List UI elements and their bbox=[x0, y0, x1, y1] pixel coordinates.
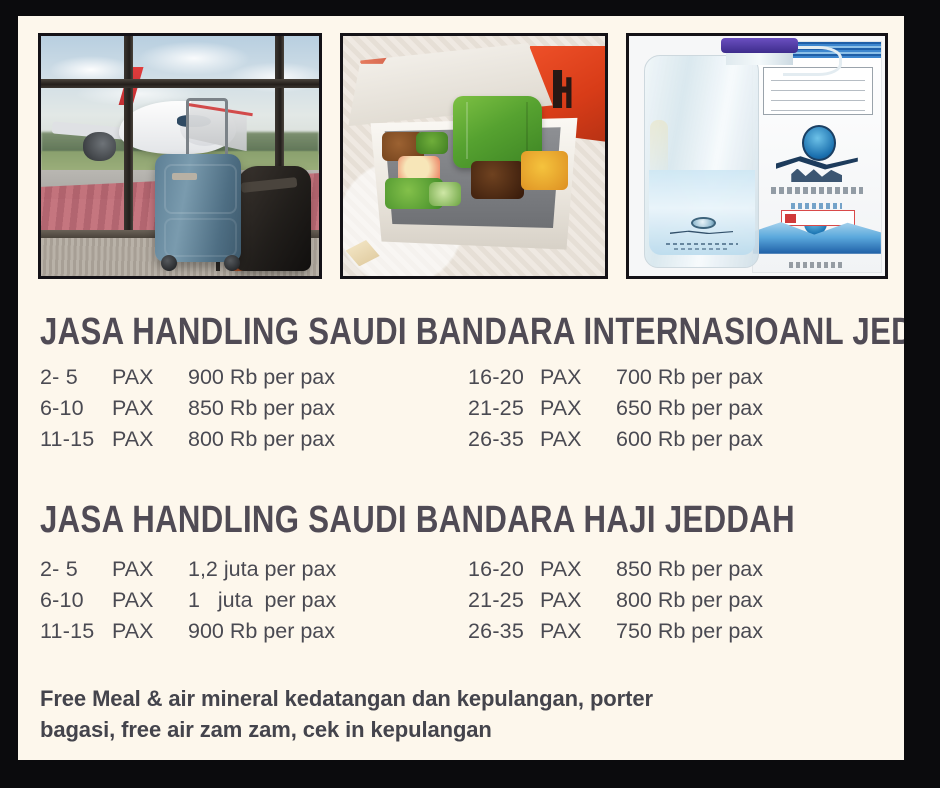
zam-zam-water-photo bbox=[626, 33, 888, 279]
table-row: 11-15 PAX 900 Rb per pax 26-35 PAX 750 R… bbox=[40, 619, 880, 650]
price-cell: 16-20 PAX 700 Rb per pax bbox=[468, 365, 880, 390]
photo-strip bbox=[38, 33, 888, 279]
meal-box-photo bbox=[340, 33, 608, 279]
pax-range: 16-20 bbox=[468, 365, 540, 390]
pax-unit: PAX bbox=[112, 557, 188, 582]
price-cell: 11-15 PAX 800 Rb per pax bbox=[40, 427, 468, 452]
pax-range: 26-35 bbox=[468, 619, 540, 644]
label-line bbox=[771, 80, 866, 81]
price-value: 800 Rb per pax bbox=[188, 427, 335, 452]
price-cell: 26-35 PAX 600 Rb per pax bbox=[468, 427, 880, 452]
price-cell: 2- 5 PAX 1,2 juta per pax bbox=[40, 557, 468, 582]
suitcase-handle bbox=[186, 98, 228, 161]
price-value: 600 Rb per pax bbox=[616, 427, 763, 452]
pax-range: 2- 5 bbox=[40, 365, 112, 390]
price-value: 800 Rb per pax bbox=[616, 588, 763, 613]
pax-unit: PAX bbox=[112, 396, 188, 421]
pax-range: 21-25 bbox=[468, 396, 540, 421]
section-1-heading: JASA HANDLING SAUDI BANDARA INTERNASIOAN… bbox=[40, 311, 904, 354]
food-omelette bbox=[521, 151, 568, 189]
pax-unit: PAX bbox=[540, 365, 616, 390]
bottle-arabic-logo bbox=[670, 230, 734, 234]
bottle-emblem-icon bbox=[691, 217, 716, 229]
pax-unit: PAX bbox=[112, 588, 188, 613]
plane-engine bbox=[83, 132, 116, 161]
price-cell: 16-20 PAX 850 Rb per pax bbox=[468, 557, 880, 582]
price-cell: 11-15 PAX 900 Rb per pax bbox=[40, 619, 468, 644]
arabic-brand-text bbox=[791, 169, 842, 183]
pax-unit: PAX bbox=[540, 588, 616, 613]
bottle-label bbox=[649, 170, 755, 254]
price-cell: 26-35 PAX 750 Rb per pax bbox=[468, 619, 880, 644]
price-cell: 21-25 PAX 650 Rb per pax bbox=[468, 396, 880, 421]
pax-range: 16-20 bbox=[468, 557, 540, 582]
food-green-chili bbox=[416, 132, 447, 154]
price-value: 750 Rb per pax bbox=[616, 619, 763, 644]
airport-terminal-luggage-photo bbox=[38, 33, 322, 279]
price-value: 850 Rb per pax bbox=[188, 396, 335, 421]
section-2-heading: JASA HANDLING SAUDI BANDARA HAJI JEDDAH bbox=[40, 499, 795, 542]
arabic-secondary-text bbox=[791, 203, 842, 209]
pax-range: 26-35 bbox=[468, 427, 540, 452]
pax-range: 11-15 bbox=[40, 427, 112, 452]
carton-website-text bbox=[789, 262, 845, 268]
price-value: 1 juta per pax bbox=[188, 588, 336, 613]
table-row: 2- 5 PAX 1,2 juta per pax 16-20 PAX 850 … bbox=[40, 557, 880, 588]
pax-unit: PAX bbox=[540, 427, 616, 452]
price-cell: 6-10 PAX 850 Rb per pax bbox=[40, 396, 468, 421]
bottle-label-text bbox=[666, 243, 738, 245]
blue-suitcase bbox=[155, 154, 241, 262]
poster-frame: JASA HANDLING SAUDI BANDARA INTERNASIOAN… bbox=[0, 0, 940, 788]
meal-scene bbox=[343, 36, 605, 276]
price-value: 850 Rb per pax bbox=[616, 557, 763, 582]
price-value: 650 Rb per pax bbox=[616, 396, 763, 421]
price-cell: 21-25 PAX 800 Rb per pax bbox=[468, 588, 880, 613]
pax-range: 6-10 bbox=[40, 588, 112, 613]
label-line bbox=[771, 90, 866, 91]
table-row: 6-10 PAX 1 juta per pax 21-25 PAX 800 Rb… bbox=[40, 588, 880, 619]
price-value: 1,2 juta per pax bbox=[188, 557, 336, 582]
price-cell: 6-10 PAX 1 juta per pax bbox=[40, 588, 468, 613]
label-line bbox=[771, 110, 866, 111]
pax-unit: PAX bbox=[112, 619, 188, 644]
airport-scene bbox=[41, 36, 319, 276]
water-bottle bbox=[644, 55, 759, 268]
section-2-price-table: 2- 5 PAX 1,2 juta per pax 16-20 PAX 850 … bbox=[40, 557, 880, 650]
pax-range: 6-10 bbox=[40, 396, 112, 421]
water-product-scene bbox=[629, 36, 885, 276]
price-value: 900 Rb per pax bbox=[188, 619, 335, 644]
food-cucumber bbox=[429, 182, 460, 206]
pax-unit: PAX bbox=[112, 427, 188, 452]
food-rendang bbox=[471, 161, 523, 199]
bottle-cap bbox=[721, 38, 798, 52]
pax-unit: PAX bbox=[540, 557, 616, 582]
arabic-subtitle-text bbox=[771, 187, 863, 194]
authority-logo-badge bbox=[781, 210, 855, 226]
pax-unit: PAX bbox=[112, 365, 188, 390]
section-1-price-table: 2- 5 PAX 900 Rb per pax 16-20 PAX 700 Rb… bbox=[40, 365, 880, 458]
price-cell: 2- 5 PAX 900 Rb per pax bbox=[40, 365, 468, 390]
pax-range: 2- 5 bbox=[40, 557, 112, 582]
pax-unit: PAX bbox=[540, 396, 616, 421]
table-row: 2- 5 PAX 900 Rb per pax 16-20 PAX 700 Rb… bbox=[40, 365, 880, 396]
pax-unit: PAX bbox=[540, 619, 616, 644]
pax-range: 11-15 bbox=[40, 619, 112, 644]
suitcase-badge bbox=[172, 173, 197, 180]
footer-note: Free Meal & air mineral kedatangan dan k… bbox=[40, 683, 860, 745]
price-value: 700 Rb per pax bbox=[616, 365, 763, 390]
zam-zam-carton bbox=[752, 41, 882, 273]
table-row: 11-15 PAX 800 Rb per pax 26-35 PAX 600 R… bbox=[40, 427, 880, 458]
table-row: 6-10 PAX 850 Rb per pax 21-25 PAX 650 Rb… bbox=[40, 396, 880, 427]
bottle-label-subtext bbox=[674, 248, 729, 250]
window-mullion-horizontal bbox=[41, 79, 319, 88]
zam-zam-emblem-icon bbox=[802, 125, 837, 161]
label-line bbox=[771, 100, 866, 101]
suitcase-wheel bbox=[161, 255, 177, 271]
poster-sheet: JASA HANDLING SAUDI BANDARA INTERNASIOAN… bbox=[18, 16, 904, 760]
pax-range: 21-25 bbox=[468, 588, 540, 613]
price-value: 900 Rb per pax bbox=[188, 365, 335, 390]
